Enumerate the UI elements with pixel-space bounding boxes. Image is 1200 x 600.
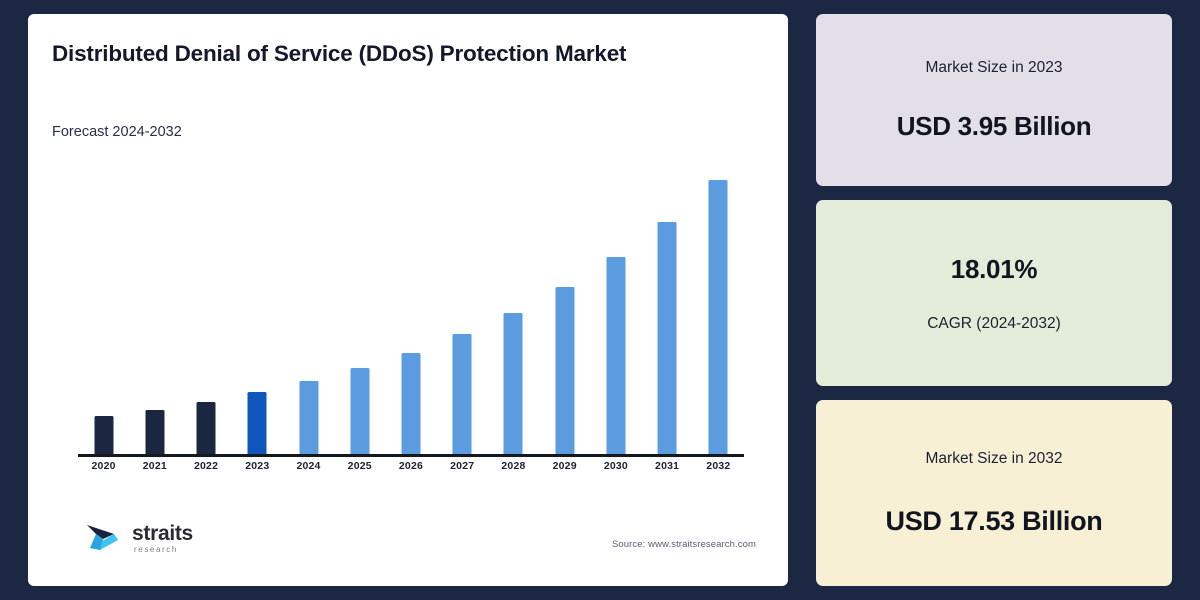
stat-cards: Market Size in 2023 USD 3.95 Billion 18.… <box>816 14 1172 586</box>
bar-rect-2025 <box>350 368 369 454</box>
bar-rect-2022 <box>197 402 216 454</box>
page-title: Distributed Denial of Service (DDoS) Pro… <box>52 40 692 69</box>
source-credit: Source: www.straitsresearch.com <box>612 539 756 550</box>
straits-research-logo: straits research <box>84 518 193 558</box>
card-value: USD 3.95 Billion <box>897 111 1092 142</box>
x-tick-label-2032: 2032 <box>693 460 744 472</box>
bar-rect-2020 <box>94 416 113 454</box>
forecast-subtitle: Forecast 2024-2032 <box>52 124 182 140</box>
x-tick-label-2025: 2025 <box>334 460 385 472</box>
bar-rect-2031 <box>658 222 677 454</box>
x-tick-label-2031: 2031 <box>642 460 693 472</box>
card-label: Market Size in 2032 <box>926 450 1063 468</box>
bar-rect-2032 <box>709 180 728 454</box>
x-tick-label-2020: 2020 <box>78 460 129 472</box>
x-tick-label-2021: 2021 <box>129 460 180 472</box>
x-tick-label-2022: 2022 <box>180 460 231 472</box>
bar-rect-2029 <box>555 287 574 454</box>
card-label: CAGR (2024-2032) <box>927 315 1061 333</box>
bar-rect-2023 <box>248 392 267 454</box>
stat-card-cagr: 18.01% CAGR (2024-2032) <box>816 200 1172 386</box>
bar-rect-2026 <box>401 353 420 454</box>
bar-rect-2030 <box>606 257 625 454</box>
bar-rect-2024 <box>299 381 318 454</box>
logo-wordmark: straits research <box>132 523 193 554</box>
bar-2031 <box>642 154 693 454</box>
x-axis-line <box>78 454 744 457</box>
bar-2029 <box>539 154 590 454</box>
bar-2022 <box>180 154 231 454</box>
market-size-bar-chart: 2020202120222023202420252026202720282029… <box>52 154 768 490</box>
card-value: 18.01% <box>951 254 1037 285</box>
bar-2024 <box>283 154 334 454</box>
bar-2030 <box>590 154 641 454</box>
card-value: USD 17.53 Billion <box>886 506 1103 537</box>
bar-2025 <box>334 154 385 454</box>
bar-series <box>78 154 744 454</box>
bar-2026 <box>385 154 436 454</box>
logo-word: straits <box>132 523 193 544</box>
x-tick-label-2029: 2029 <box>539 460 590 472</box>
card-label: Market Size in 2023 <box>926 59 1063 77</box>
bar-rect-2027 <box>453 334 472 454</box>
bar-2020 <box>78 154 129 454</box>
bar-2032 <box>693 154 744 454</box>
chart-panel: Distributed Denial of Service (DDoS) Pro… <box>28 14 788 586</box>
bar-2021 <box>129 154 180 454</box>
x-tick-label-2024: 2024 <box>283 460 334 472</box>
straits-arrow-logo-icon <box>84 518 124 558</box>
x-tick-label-2030: 2030 <box>590 460 641 472</box>
infographic-root: Distributed Denial of Service (DDoS) Pro… <box>0 0 1200 600</box>
stat-card-market-size-2023: Market Size in 2023 USD 3.95 Billion <box>816 14 1172 186</box>
bar-2023 <box>232 154 283 454</box>
bar-2028 <box>488 154 539 454</box>
stat-card-market-size-2032: Market Size in 2032 USD 17.53 Billion <box>816 400 1172 586</box>
bar-rect-2028 <box>504 313 523 454</box>
logo-subword: research <box>134 546 193 554</box>
x-tick-label-2027: 2027 <box>437 460 488 472</box>
x-tick-label-2028: 2028 <box>488 460 539 472</box>
bar-rect-2021 <box>145 410 164 454</box>
x-tick-label-2026: 2026 <box>385 460 436 472</box>
bar-2027 <box>437 154 488 454</box>
x-tick-label-2023: 2023 <box>232 460 283 472</box>
